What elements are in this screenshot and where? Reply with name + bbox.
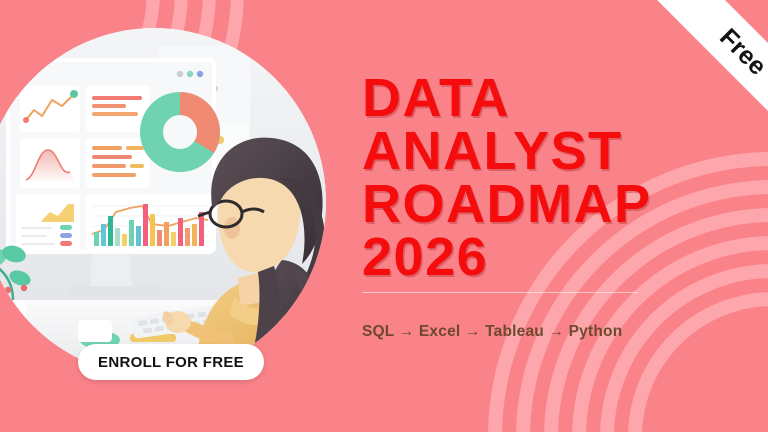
roadmap-steps: SQL → Excel → Tableau → Python (362, 323, 692, 341)
enroll-button-label: ENROLL FOR FREE (98, 354, 244, 371)
poster-canvas: Free ENROLL FOR FREE DATA ANALYST ROADMA… (0, 0, 768, 432)
title-divider (362, 292, 638, 293)
enroll-for-free-button[interactable]: ENROLL FOR FREE (78, 344, 264, 380)
text-content: DATA ANALYST ROADMAP 2026 SQL → Excel → … (362, 72, 692, 341)
hero-illustration (0, 28, 326, 376)
page-title: DATA ANALYST ROADMAP 2026 (362, 72, 692, 284)
ribbon-label: Free (714, 23, 768, 81)
